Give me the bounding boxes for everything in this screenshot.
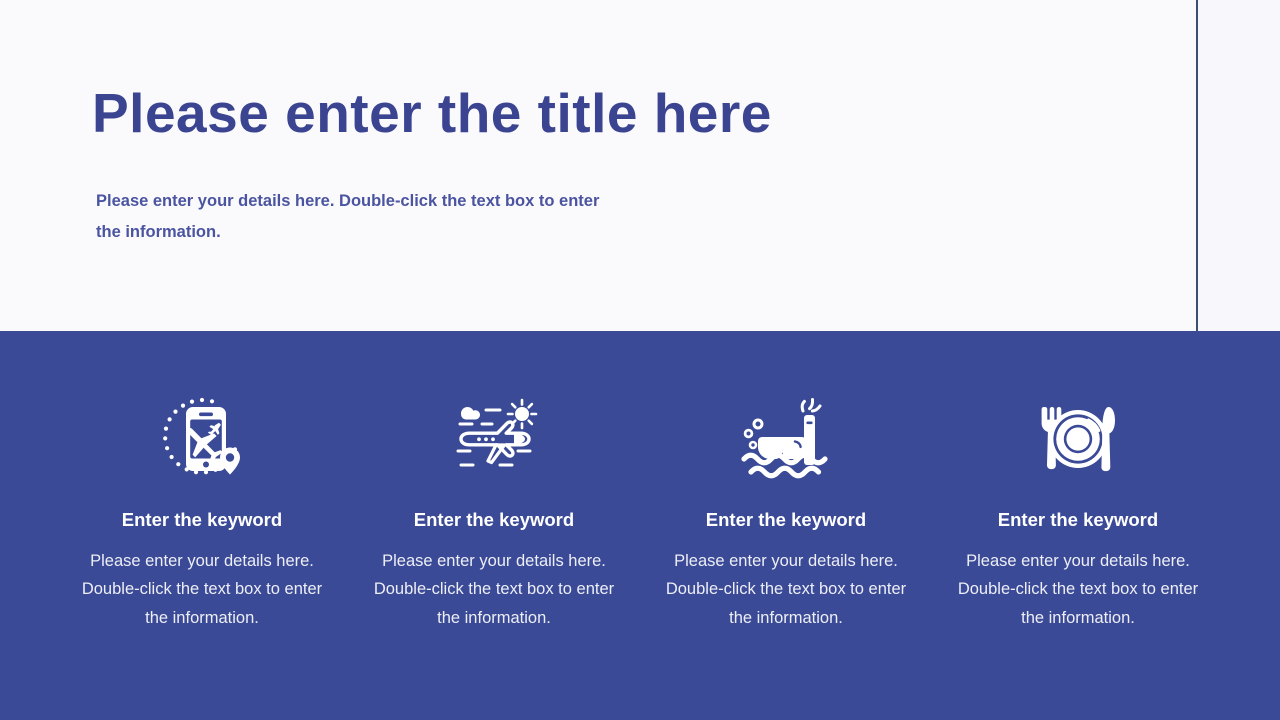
feature-card-title: Enter the keyword	[706, 509, 866, 531]
feature-card-body: Please enter your details here. Double-c…	[70, 547, 335, 632]
feature-card-title: Enter the keyword	[122, 509, 282, 531]
dining-plate-cutlery-icon	[1032, 393, 1124, 485]
snorkel-diving-icon	[740, 393, 832, 485]
feature-card-title: Enter the keyword	[414, 509, 574, 531]
feature-band: Enter the keyword Please enter your deta…	[0, 331, 1280, 720]
header-panel	[0, 0, 1197, 331]
feature-card-list: Enter the keyword Please enter your deta…	[0, 331, 1280, 720]
feature-card[interactable]: Enter the keyword Please enter your deta…	[932, 331, 1224, 720]
vertical-accent-rule	[1196, 0, 1198, 331]
feature-card[interactable]: Enter the keyword Please enter your deta…	[640, 331, 932, 720]
header-area: Please enter the title here Please enter…	[0, 0, 1280, 331]
feature-card-body: Please enter your details here. Double-c…	[362, 547, 627, 632]
page-title: Please enter the title here	[92, 85, 772, 143]
mobile-travel-booking-icon	[156, 393, 248, 485]
slide-canvas: Please enter the title here Please enter…	[0, 0, 1280, 720]
feature-card-body: Please enter your details here. Double-c…	[664, 547, 909, 632]
page-subtitle: Please enter your details here. Double-c…	[96, 186, 616, 249]
feature-card-body: Please enter your details here. Double-c…	[946, 547, 1211, 632]
feature-card[interactable]: Enter the keyword Please enter your deta…	[56, 331, 348, 720]
feature-card[interactable]: Enter the keyword Please enter your deta…	[348, 331, 640, 720]
feature-card-title: Enter the keyword	[998, 509, 1158, 531]
airplane-flight-icon	[448, 393, 540, 485]
